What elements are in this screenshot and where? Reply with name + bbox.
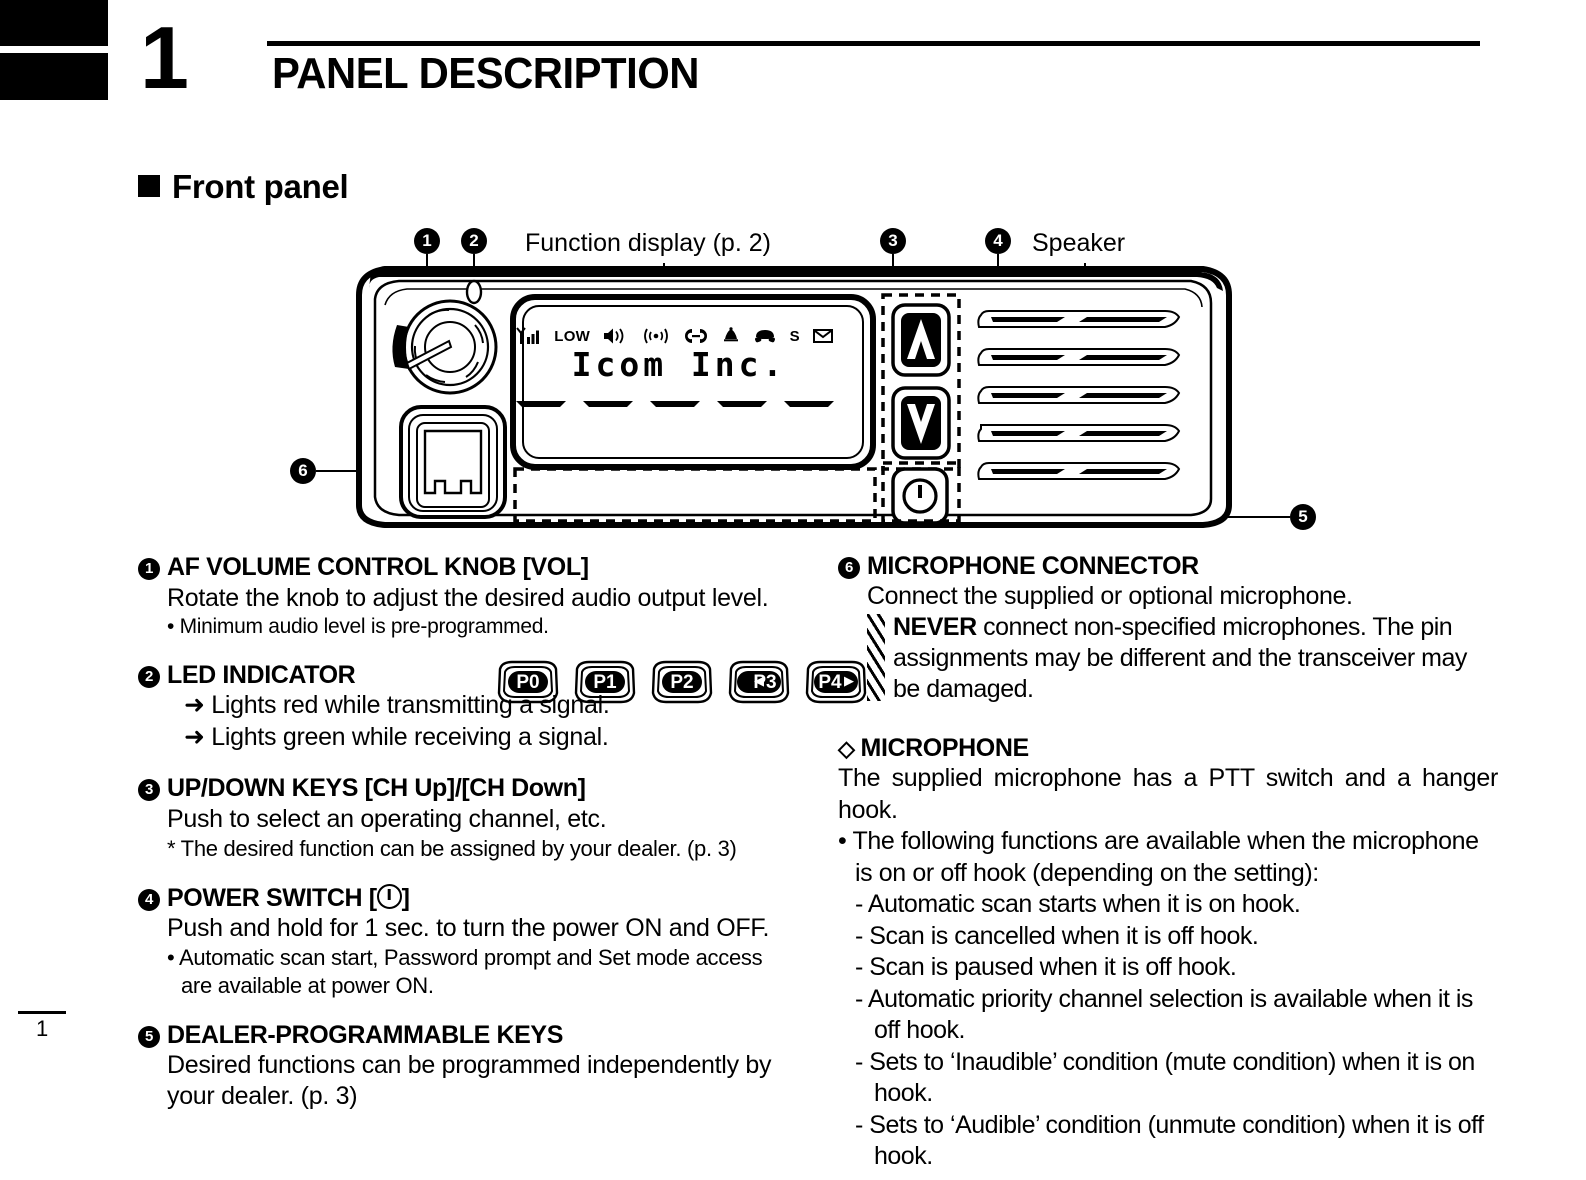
- callout-3: 3: [880, 228, 906, 254]
- callout-6: 6: [290, 458, 316, 484]
- bell-icon: [721, 327, 741, 345]
- never-warning-block: NEVER connect non-specified microphones.…: [867, 612, 1498, 705]
- item-4-heading: 4POWER SWITCH []: [138, 883, 818, 914]
- front-panel-diagram: 1 2 Function display (p. 2) 3 4 Speaker …: [0, 215, 1586, 545]
- badge-2: 2: [138, 666, 160, 688]
- item-2-heading: 2LED INDICATOR: [138, 660, 818, 691]
- item-6-heading-text: MICROPHONE CONNECTOR: [867, 552, 1199, 580]
- microphone-heading: ◇MICROPHONE: [838, 734, 1498, 763]
- page-title: PANEL DESCRIPTION: [272, 49, 699, 99]
- envelope-icon: [812, 327, 834, 345]
- never-warning-text: NEVER connect non-specified microphones.…: [893, 612, 1498, 705]
- lcd-low-indicator: LOW: [554, 328, 590, 345]
- item-3-heading-text: UP/DOWN KEYS [CH Up]/[CH Down]: [167, 774, 586, 802]
- telephone-icon: [753, 327, 777, 345]
- item-3-body-line-1: Push to select an operating channel, etc…: [167, 804, 818, 835]
- microphone-dash-5: - Sets to ‘Inaudible’ condition (mute co…: [855, 1047, 1498, 1110]
- signal-antenna-icon: [516, 327, 542, 345]
- item-4-sub-line-1: • Automatic scan start, Password prompt …: [167, 944, 818, 972]
- callout-1: 1: [414, 228, 440, 254]
- item-3-heading: 3UP/DOWN KEYS [CH Up]/[CH Down]: [138, 773, 818, 804]
- item-microphone: ◇MICROPHONE The supplied microphone has …: [838, 734, 1498, 1173]
- item-6-body: Connect the supplied or optional microph…: [867, 581, 1498, 612]
- badge-3: 3: [138, 779, 160, 801]
- lcd-segment: [516, 399, 566, 409]
- callout-2: 2: [461, 228, 487, 254]
- item-4-heading-post: ]: [402, 884, 410, 912]
- power-icon: [377, 884, 402, 909]
- callout-5: 5: [1290, 504, 1316, 530]
- led-indicator-graphic: [467, 281, 481, 303]
- never-warning-bold: NEVER: [893, 613, 977, 641]
- item-5-body-line-2: your dealer. (p. 3): [167, 1081, 818, 1112]
- radio-body: [345, 255, 1245, 535]
- mic-connector-graphic: [401, 407, 505, 517]
- item-1-sub-line-1: • Minimum audio level is pre-programmed.: [167, 614, 818, 640]
- chapter-tab-upper: [0, 0, 108, 46]
- footer-rule: [18, 1011, 66, 1014]
- microphone-bullet: • The following functions are available …: [838, 826, 1498, 889]
- right-text-column: 6MICROPHONE CONNECTOR Connect the suppli…: [838, 552, 1498, 1180]
- section-heading-label: Front panel: [172, 168, 348, 205]
- badge-1: 1: [138, 558, 160, 580]
- never-warning-rest: connect non-specified microphones. The p…: [893, 613, 1467, 703]
- diamond-bullet-icon: ◇: [838, 736, 855, 761]
- lcd-segment-row: [516, 399, 834, 409]
- lcd-segment: [650, 399, 700, 409]
- item-power-switch: 4POWER SWITCH [] Push and hold for 1 sec…: [138, 883, 818, 1000]
- item-5-heading: 5DEALER-PROGRAMMABLE KEYS: [138, 1020, 818, 1051]
- item-2-arrow-line-2: ➜ Lights green while receiving a signal.: [184, 722, 818, 754]
- microphone-dash-4: - Automatic priority channel selection i…: [855, 984, 1498, 1047]
- item-up-down-keys: 3UP/DOWN KEYS [CH Up]/[CH Down] Push to …: [138, 773, 818, 862]
- item-af-volume: 1AF VOLUME CONTROL KNOB [VOL] Rotate the…: [138, 552, 818, 640]
- left-text-column: 1AF VOLUME CONTROL KNOB [VOL] Rotate the…: [138, 552, 818, 1119]
- lcd-text-line: Icom Inc.: [514, 345, 844, 384]
- microphone-dash-3: - Scan is paused when it is off hook.: [855, 952, 1498, 984]
- speaker-label: Speaker: [1032, 229, 1125, 258]
- item-4-sub-line-2: are available at power ON.: [181, 972, 818, 1000]
- title-rule: [267, 41, 1480, 46]
- item-led-indicator: 2LED INDICATOR ➜ Lights red while transm…: [138, 660, 818, 754]
- microphone-dash-2: - Scan is cancelled when it is off hook.: [855, 921, 1498, 953]
- microphone-paragraph: The supplied microphone has a PTT switch…: [838, 763, 1498, 826]
- item-1-heading: 1AF VOLUME CONTROL KNOB [VOL]: [138, 552, 818, 583]
- item-4-body-line-1: Push and hold for 1 sec. to turn the pow…: [167, 913, 818, 944]
- lcd-segment: [784, 399, 834, 409]
- square-bullet-icon: [138, 175, 160, 197]
- section-heading: Front panel: [138, 168, 348, 206]
- microphone-dash-1: - Automatic scan starts when it is on ho…: [855, 889, 1498, 921]
- item-2-heading-text: LED INDICATOR: [167, 661, 355, 689]
- lcd-segment: [717, 399, 767, 409]
- transmit-wave-icon: [641, 327, 671, 345]
- item-microphone-connector: 6MICROPHONE CONNECTOR Connect the suppli…: [838, 552, 1498, 705]
- scan-loop-icon: [683, 327, 709, 345]
- page-number: 1: [36, 1016, 48, 1042]
- lcd-s-indicator: S: [790, 328, 800, 345]
- item-5-heading-text: DEALER-PROGRAMMABLE KEYS: [167, 1021, 563, 1049]
- chapter-tab-lower: [0, 53, 108, 100]
- microphone-dash-6: - Sets to ‘Audible’ condition (unmute co…: [855, 1110, 1498, 1173]
- lcd-segment: [583, 399, 633, 409]
- item-5-body-line-1: Desired functions can be programmed inde…: [167, 1050, 818, 1081]
- item-3-sub-line-1: * The desired function can be assigned b…: [167, 835, 818, 863]
- lcd-icon-row: LOW: [516, 323, 834, 345]
- function-display-label: Function display (p. 2): [525, 229, 771, 258]
- speaker-volume-icon: [602, 327, 628, 345]
- item-4-heading-pre: POWER SWITCH [: [167, 884, 377, 912]
- badge-6: 6: [838, 557, 860, 579]
- warning-hatch-bar-icon: [867, 614, 885, 701]
- item-6-heading: 6MICROPHONE CONNECTOR: [838, 552, 1498, 581]
- callout-4: 4: [985, 228, 1011, 254]
- item-2-arrow-line-1: ➜ Lights red while transmitting a signal…: [184, 690, 818, 722]
- badge-5: 5: [138, 1026, 160, 1048]
- item-dealer-programmable-keys: 5DEALER-PROGRAMMABLE KEYS Desired functi…: [138, 1020, 818, 1113]
- chapter-number: 1: [140, 14, 230, 102]
- item-1-heading-text: AF VOLUME CONTROL KNOB [VOL]: [167, 553, 589, 581]
- item-1-body-line-1: Rotate the knob to adjust the desired au…: [167, 583, 818, 614]
- badge-4: 4: [138, 889, 160, 911]
- microphone-heading-text: MICROPHONE: [861, 734, 1029, 762]
